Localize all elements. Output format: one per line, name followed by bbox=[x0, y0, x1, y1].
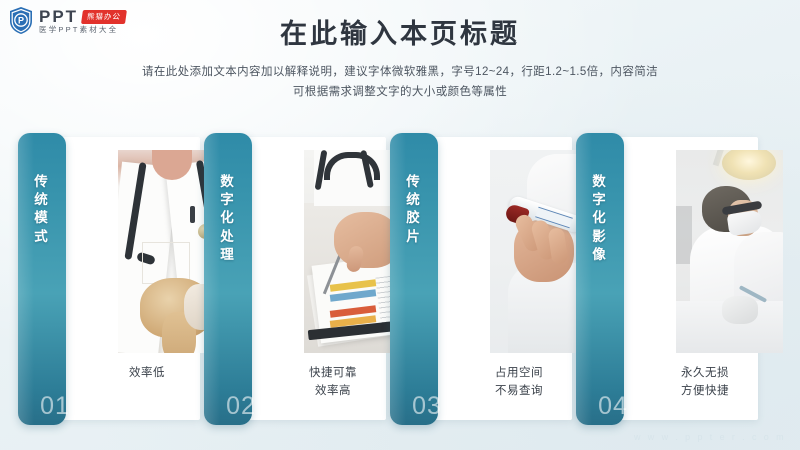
card-tab-label-char: 影 bbox=[576, 228, 624, 246]
subtitle-line-1: 请在此处添加文本内容加以解释说明，建议字体微软雅黑，字号12~24，行距1.2~… bbox=[0, 62, 800, 82]
card-tab[interactable]: 数字化影像 bbox=[576, 133, 624, 425]
card-caption-line-1: 效率低 bbox=[94, 365, 200, 383]
card-tab-label-char: 化 bbox=[204, 209, 252, 227]
card-tab-label-char: 胶 bbox=[390, 209, 438, 227]
card-tab-label-char: 化 bbox=[576, 209, 624, 227]
card-photo bbox=[676, 150, 783, 353]
card-caption: 占用空间 不易查询 bbox=[466, 365, 572, 401]
card-caption-line-2: 方便快捷 bbox=[652, 383, 758, 401]
card-number: 01 bbox=[20, 392, 90, 421]
card-tab-label-char: 像 bbox=[576, 246, 624, 264]
card-tab-label-char: 模 bbox=[18, 209, 66, 227]
card-tab-label-char: 统 bbox=[390, 191, 438, 209]
card-panel: 快捷可靠 效率高 bbox=[242, 137, 386, 420]
card-item[interactable]: 永久无损 方便快捷 数字化影像 04 bbox=[576, 133, 758, 425]
card-tab-label-char: 式 bbox=[18, 228, 66, 246]
card-tab[interactable]: 数字化处理 bbox=[204, 133, 252, 425]
card-tab-label-char: 理 bbox=[204, 246, 252, 264]
card-number: 04 bbox=[578, 392, 648, 421]
card-caption: 永久无损 方便快捷 bbox=[652, 365, 758, 401]
page-subtitle: 请在此处添加文本内容加以解释说明，建议字体微软雅黑，字号12~24，行距1.2~… bbox=[0, 62, 800, 102]
card-tab-label-char: 字 bbox=[576, 191, 624, 209]
card-number: 03 bbox=[392, 392, 462, 421]
card-tab-label-char: 统 bbox=[18, 191, 66, 209]
subtitle-line-2: 可根据需求调整文字的大小或颜色等属性 bbox=[0, 82, 800, 102]
card-caption-line-1: 快捷可靠 bbox=[280, 365, 386, 383]
card-item[interactable]: 快捷可靠 效率高 数字化处理 02 bbox=[204, 133, 386, 425]
card-tab-label: 传统胶片 bbox=[390, 173, 438, 246]
card-tab-label-char: 字 bbox=[204, 191, 252, 209]
card-tab-label-char: 数 bbox=[576, 173, 624, 191]
card-caption-line-2: 效率高 bbox=[280, 383, 386, 401]
card-tab[interactable]: 传统胶片 bbox=[390, 133, 438, 425]
card-caption: 效率低 bbox=[94, 365, 200, 383]
card-tab-label: 数字化处理 bbox=[204, 173, 252, 264]
card-tab-label-char: 处 bbox=[204, 228, 252, 246]
card-item[interactable]: 占用空间 不易查询 传统胶片 03 bbox=[390, 133, 572, 425]
card-tab-label-char: 数 bbox=[204, 173, 252, 191]
card-panel: 永久无损 方便快捷 bbox=[614, 137, 758, 420]
footer-watermark: w w w . p p t e r . c o m bbox=[634, 432, 786, 442]
card-row: 效率低 传统模式 01 快捷可靠 效率高 数字化处理 bbox=[18, 133, 782, 425]
card-panel: 效率低 bbox=[56, 137, 200, 420]
card-number: 02 bbox=[206, 392, 276, 421]
card-tab-label-char: 传 bbox=[390, 173, 438, 191]
card-caption-line-1: 永久无损 bbox=[652, 365, 758, 383]
card-tab-label-char: 传 bbox=[18, 173, 66, 191]
card-caption-line-2: 不易查询 bbox=[466, 383, 572, 401]
card-panel: 占用空间 不易查询 bbox=[428, 137, 572, 420]
card-tab-label: 传统模式 bbox=[18, 173, 66, 246]
card-tab[interactable]: 传统模式 bbox=[18, 133, 66, 425]
card-tab-label-char: 片 bbox=[390, 228, 438, 246]
card-tab-label: 数字化影像 bbox=[576, 173, 624, 264]
card-item[interactable]: 效率低 传统模式 01 bbox=[18, 133, 200, 425]
page-title: 在此输入本页标题 bbox=[0, 12, 800, 51]
card-caption: 快捷可靠 效率高 bbox=[280, 365, 386, 401]
card-caption-line-1: 占用空间 bbox=[466, 365, 572, 383]
